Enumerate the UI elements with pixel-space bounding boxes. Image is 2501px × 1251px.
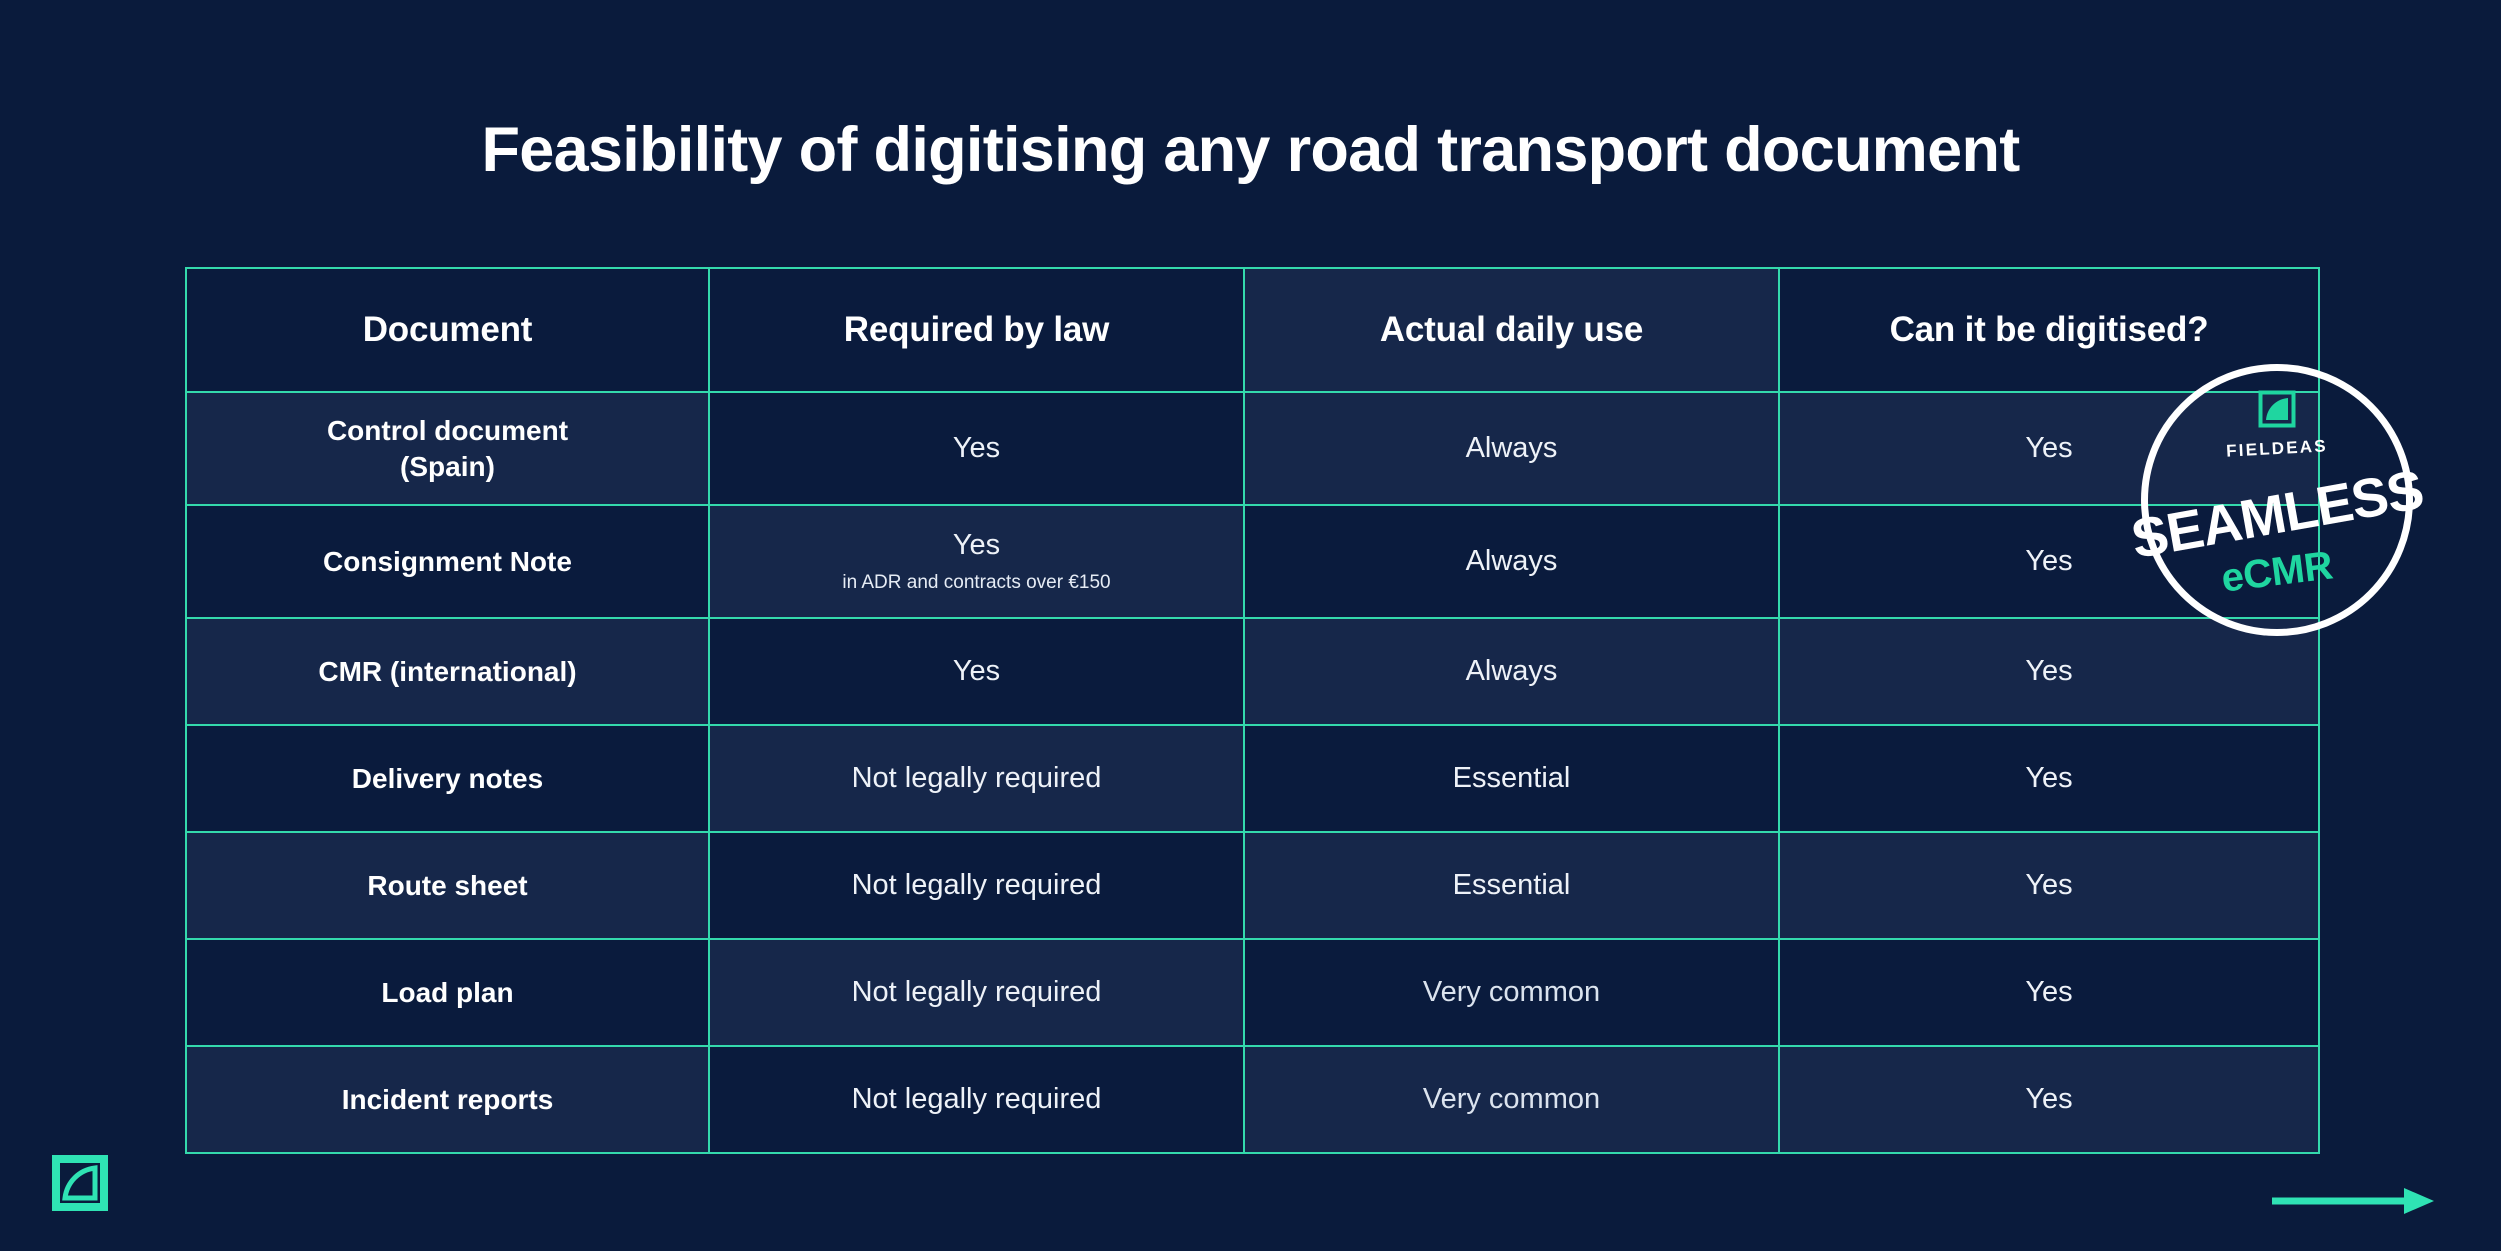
cell-required-by-law: Yes xyxy=(709,618,1244,725)
page-title: Feasibility of digitising any road trans… xyxy=(0,116,2501,185)
table-row: Control document (Spain) Yes Always Yes xyxy=(186,392,2319,505)
document-name-line2: (Spain) xyxy=(400,451,495,482)
document-name-line1: Control document xyxy=(327,415,568,446)
column-header-required-by-law: Required by law xyxy=(709,268,1244,392)
cell-can-be-digitised: Yes xyxy=(1779,1046,2319,1153)
cell-required-by-law: Not legally required xyxy=(709,725,1244,832)
cell-required-by-law: Yes xyxy=(709,392,1244,505)
cell-can-be-digitised: Yes xyxy=(1779,832,2319,939)
table-row: Route sheet Not legally required Essenti… xyxy=(186,832,2319,939)
cell-actual-daily-use: Essential xyxy=(1244,725,1779,832)
cell-document: Route sheet xyxy=(186,832,709,939)
cell-required-by-law: Not legally required xyxy=(709,1046,1244,1153)
column-header-document: Document xyxy=(186,268,709,392)
feasibility-table: Document Required by law Actual daily us… xyxy=(185,267,2320,1154)
cell-required-by-law: Yes in ADR and contracts over €150 xyxy=(709,505,1244,618)
fieldeas-square-swoosh-icon xyxy=(2258,390,2296,428)
table-row: Delivery notes Not legally required Esse… xyxy=(186,725,2319,832)
cell-actual-daily-use: Always xyxy=(1244,392,1779,505)
fieldeas-square-swoosh-icon xyxy=(52,1155,108,1211)
table-row: Incident reports Not legally required Ve… xyxy=(186,1046,2319,1153)
cell-can-be-digitised: Yes xyxy=(1779,725,2319,832)
required-value: Yes xyxy=(953,529,1000,561)
cell-actual-daily-use: Very common xyxy=(1244,939,1779,1046)
cell-document: Incident reports xyxy=(186,1046,709,1153)
cell-can-be-digitised: Yes xyxy=(1779,939,2319,1046)
table-header-row: Document Required by law Actual daily us… xyxy=(186,268,2319,392)
cell-document: Consignment Note xyxy=(186,505,709,618)
cell-actual-daily-use: Very common xyxy=(1244,1046,1779,1153)
column-header-actual-daily-use: Actual daily use xyxy=(1244,268,1779,392)
seamless-ecmr-badge: FIELDEAS SEAMLESS eCMR xyxy=(2141,364,2413,636)
arrow-right-icon xyxy=(2272,1186,2434,1216)
cell-document: Delivery notes xyxy=(186,725,709,832)
cell-actual-daily-use: Always xyxy=(1244,618,1779,725)
cell-document: Load plan xyxy=(186,939,709,1046)
table-row: CMR (international) Yes Always Yes xyxy=(186,618,2319,725)
feasibility-table-container: Document Required by law Actual daily us… xyxy=(185,267,2318,1144)
cell-actual-daily-use: Essential xyxy=(1244,832,1779,939)
cell-required-by-law: Not legally required xyxy=(709,832,1244,939)
cell-document: CMR (international) xyxy=(186,618,709,725)
required-note: in ADR and contracts over €150 xyxy=(720,571,1233,596)
table-row: Load plan Not legally required Very comm… xyxy=(186,939,2319,1046)
cell-required-by-law: Not legally required xyxy=(709,939,1244,1046)
cell-actual-daily-use: Always xyxy=(1244,505,1779,618)
table-row: Consignment Note Yes in ADR and contract… xyxy=(186,505,2319,618)
cell-document: Control document (Spain) xyxy=(186,392,709,505)
